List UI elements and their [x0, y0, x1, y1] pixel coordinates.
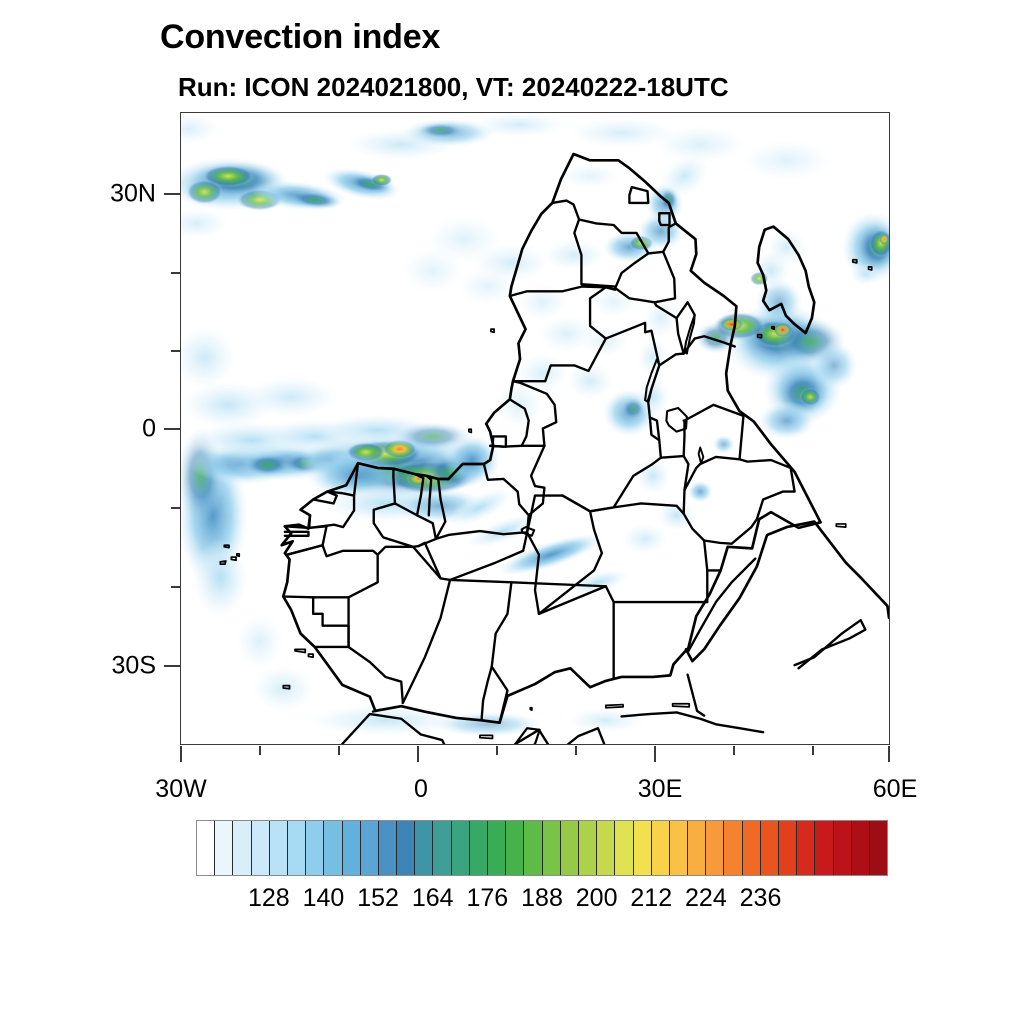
- border-mauritania-mali: [287, 545, 377, 597]
- colorbar-cell: [597, 821, 615, 875]
- field-southern-africa: [472, 145, 717, 282]
- colorbar-tick-label: 224: [685, 884, 727, 913]
- colorbar-cell: [579, 821, 597, 875]
- colorbar-cell: [779, 821, 797, 875]
- chart-title: Convection index: [160, 18, 440, 57]
- colorbar-cell: [343, 821, 361, 875]
- border-guinea-bissau: [285, 515, 310, 528]
- border-algeria-libya: [450, 580, 511, 667]
- persian-gulf: [795, 620, 866, 668]
- colorbar-tick-label: 236: [740, 884, 782, 913]
- lake-turkana: [699, 447, 704, 463]
- xlabel-60e: 60E: [873, 775, 917, 804]
- colorbar-tick-label: 140: [303, 884, 345, 913]
- xlabel-0: 0: [414, 775, 428, 804]
- ytick-15s: [171, 507, 180, 509]
- colorbar-cell: [306, 821, 324, 875]
- colorbar-cell: [252, 821, 270, 875]
- field-south-atlantic-front: [181, 113, 834, 239]
- xtick-10e: [496, 746, 498, 755]
- border-algeria-mali-niger: [378, 547, 450, 703]
- colorbar-cell: [506, 821, 524, 875]
- colorbar-tick-label: 200: [576, 884, 618, 913]
- border-morocco-wsahara: [283, 597, 348, 647]
- colorbar-cell: [543, 821, 561, 875]
- colorbar-cell: [415, 821, 433, 875]
- xlabel-30e: 30E: [638, 775, 682, 804]
- colorbar-cell: [524, 821, 542, 875]
- ylabel-30n: 30N: [96, 180, 156, 209]
- field-north-africa: [236, 614, 645, 737]
- ytick-0: [164, 428, 180, 430]
- ylabel-30s: 30S: [96, 652, 156, 681]
- field-east-africa: [622, 435, 735, 555]
- colorbar-cell: [634, 821, 652, 875]
- xtick-10w: [338, 746, 340, 755]
- border-kenya-somalia: [740, 416, 744, 459]
- ytick-30s: [164, 665, 180, 667]
- border-senegal-gambia: [285, 532, 309, 536]
- colorbar-cell: [324, 821, 342, 875]
- colorbar-cell: [870, 821, 887, 875]
- colorbar-cell: [652, 821, 670, 875]
- colorbar-cell: [743, 821, 761, 875]
- xtick-50e: [812, 746, 814, 755]
- colorbar-cell: [615, 821, 633, 875]
- colorbar-cell: [361, 821, 379, 875]
- xtick-30w: [180, 746, 182, 762]
- ytick-minor-lower: [171, 586, 180, 588]
- field-congo-basin: [496, 283, 680, 436]
- colorbar-cell: [688, 821, 706, 875]
- field-tropical-cyclone: [842, 212, 889, 286]
- border-wsahara-mauritania: [313, 597, 348, 647]
- colorbar-cell: [724, 821, 742, 875]
- colorbar-tick-label: 164: [412, 884, 454, 913]
- border-eq-guinea: [490, 436, 506, 446]
- colorbar-tick-label: 128: [248, 884, 290, 913]
- xtick-30e: [654, 746, 656, 762]
- colorbar-cell: [452, 821, 470, 875]
- colorbar-cell: [761, 821, 779, 875]
- map-plot-area: [180, 112, 890, 745]
- colorbar-tick-label: 176: [467, 884, 509, 913]
- xtick-60e: [888, 746, 890, 762]
- border-lesotho: [629, 187, 648, 203]
- colorbar-cell: [852, 821, 870, 875]
- border-morocco-algeria: [349, 647, 403, 703]
- border-kenya-tanzania: [684, 405, 743, 421]
- colorbar-cell: [233, 821, 251, 875]
- border-morocco-spain-gib: [373, 711, 375, 712]
- colorbar-cell: [797, 821, 815, 875]
- colorbar-cell: [834, 821, 852, 875]
- map-canvas: [181, 113, 889, 744]
- colorbar-cell: [215, 821, 233, 875]
- colorbar-cell: [470, 821, 488, 875]
- colorbar-tick-label: 188: [521, 884, 563, 913]
- border-ethiopia-somalia: [740, 459, 795, 519]
- ytick-30n: [164, 193, 180, 195]
- lake-malawi: [684, 315, 694, 354]
- colorbar-tick-label: 212: [630, 884, 672, 913]
- levant-coast: [688, 675, 705, 716]
- colorbar-tick-label: 152: [357, 884, 399, 913]
- colorbar-cell: [270, 821, 288, 875]
- convection-field: [181, 113, 889, 737]
- chart-subtitle: Run: ICON 2024021800, VT: 20240222-18UTC: [178, 72, 729, 103]
- ytick-minor-upper: [171, 350, 180, 352]
- ylabel-0: 0: [96, 415, 156, 444]
- xlabel-30w: 30W: [155, 775, 206, 804]
- colorbar-cell: [815, 821, 833, 875]
- colorbar-cell: [397, 821, 415, 875]
- colorbar-cell: [488, 821, 506, 875]
- xtick-40e: [733, 746, 735, 755]
- xtick-20e: [575, 746, 577, 755]
- colorbar-cell: [561, 821, 579, 875]
- border-ethiopia-eritrea-djibouti: [704, 519, 757, 543]
- colorbar-cell: [706, 821, 724, 875]
- border-cameroon-car: [529, 446, 545, 515]
- xtick-0: [417, 746, 419, 762]
- ytick-15n: [171, 272, 180, 274]
- border-uganda-kenya: [684, 421, 685, 456]
- colorbar-cell: [288, 821, 306, 875]
- colorbar-cell: [379, 821, 397, 875]
- colorbar-cell: [433, 821, 451, 875]
- red-sea-east: [688, 559, 755, 651]
- colorbar-cell: [670, 821, 688, 875]
- colorbar-cell: [197, 821, 215, 875]
- xtick-20w: [259, 746, 261, 755]
- colorbar: [196, 820, 888, 876]
